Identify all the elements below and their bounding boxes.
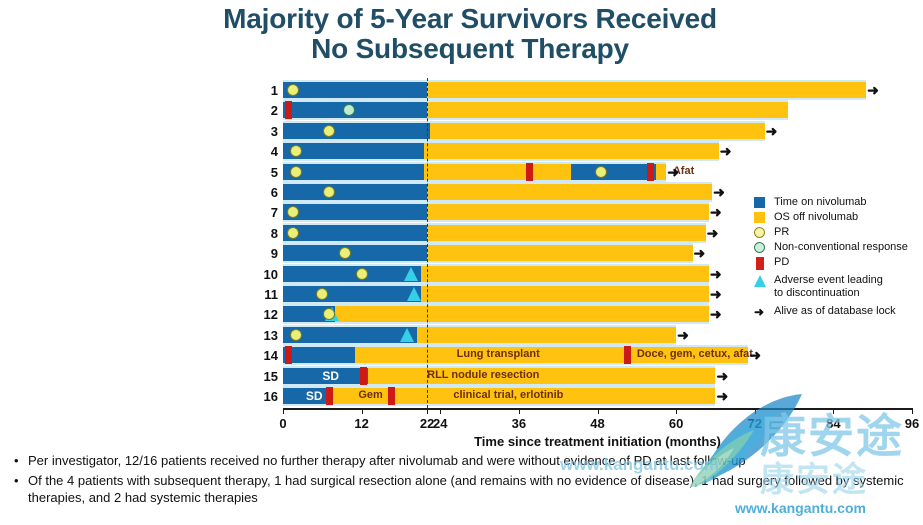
time-on-nivolumab-segment [283, 204, 427, 220]
alive-arrow-icon: ➜ [694, 247, 706, 259]
red-bar-icon [756, 257, 764, 270]
pr-marker [323, 186, 335, 198]
legend-item[interactable]: PR [752, 226, 920, 239]
time-on-nivolumab-segment [283, 123, 430, 139]
axis-tick [519, 408, 520, 414]
row-label: 8 [252, 226, 278, 241]
bar-annotation-label: Lung transplant [457, 348, 540, 360]
axis-tick [598, 408, 599, 414]
pr-marker [287, 227, 299, 239]
alive-arrow-icon: ➜ [713, 186, 725, 198]
axis-tick [427, 408, 428, 414]
pd-marker [647, 163, 654, 181]
adverse-event-marker [404, 267, 418, 281]
bullet-item: Per investigator, 12/16 patients receive… [10, 452, 915, 469]
bar-annotation-label: SD [322, 369, 339, 383]
row-label: 7 [252, 205, 278, 220]
legend-item-label: Non-conventional response [774, 241, 908, 253]
alive-arrow-icon: ➜ [677, 329, 689, 341]
alive-arrow-icon: ➜ [766, 125, 778, 137]
row-label: 9 [252, 246, 278, 261]
legend-item-label-line2: to discontinuation [774, 287, 920, 300]
legend-item[interactable]: PD [752, 256, 920, 269]
alive-arrow-icon: ➜ [867, 84, 879, 96]
axis-tick [833, 408, 834, 414]
row-label: 12 [252, 307, 278, 322]
patient-row[interactable]: ➜ [283, 121, 912, 141]
legend-item[interactable]: Time on nivolumab [752, 196, 920, 209]
pd-marker [360, 367, 367, 385]
axis-tick-label: 48 [590, 416, 604, 431]
time-on-nivolumab-segment [283, 266, 421, 282]
adverse-event-marker [407, 287, 421, 301]
pd-marker [624, 346, 631, 364]
reference-line [427, 78, 428, 408]
pd-marker [326, 387, 333, 405]
time-on-nivolumab-segment [283, 82, 427, 98]
pd-marker [285, 346, 292, 364]
alive-arrow-icon: ➜ [710, 206, 722, 218]
row-label: 10 [252, 267, 278, 282]
chart-legend: Time on nivolumabOS off nivolumabPRNon-c… [752, 196, 920, 320]
time-on-nivolumab-segment [283, 286, 421, 302]
pd-marker [285, 101, 292, 119]
pr-marker [323, 125, 335, 137]
page-title: Majority of 5-Year Survivors Received No… [150, 4, 790, 64]
row-label: 15 [252, 369, 278, 384]
axis-tick [283, 408, 284, 414]
legend-item[interactable]: ➜Alive as of database lock [752, 305, 920, 318]
alive-arrow-icon: ➜ [667, 166, 679, 178]
row-label: 14 [252, 348, 278, 363]
cyan-triangle-icon [754, 275, 766, 287]
yellow-circle-icon [754, 227, 765, 238]
patient-row[interactable]: ➜ [283, 141, 912, 161]
pd-marker [526, 163, 533, 181]
legend-item-label: OS off nivolumab [774, 211, 858, 223]
legend-item-label: Adverse event leading [774, 274, 883, 286]
time-on-nivolumab-segment [283, 184, 427, 200]
row-label: 4 [252, 144, 278, 159]
patient-row[interactable] [283, 100, 912, 120]
bar-annotation-label: SD [306, 389, 323, 403]
alive-arrow-icon: ➜ [716, 370, 728, 382]
time-on-nivolumab-segment [283, 327, 417, 343]
patient-row[interactable]: SDGemclinical trial, erlotinib➜ [283, 386, 912, 406]
row-label: 11 [252, 287, 278, 302]
alive-arrow-icon: ➜ [720, 145, 732, 157]
alive-arrow-icon: ➜ [710, 268, 722, 280]
row-label: 2 [252, 103, 278, 118]
pd-marker [388, 387, 395, 405]
row-label: 3 [252, 124, 278, 139]
os-off-nivolumab-segment [283, 306, 709, 322]
patient-row[interactable]: ➜ [283, 80, 912, 100]
patient-row[interactable]: SDRLL nodule resection➜ [283, 366, 912, 386]
axis-tick-label: 36 [512, 416, 526, 431]
legend-item-label: PR [774, 226, 789, 238]
adverse-event-marker [400, 328, 414, 342]
alive-arrow-icon: ➜ [749, 349, 761, 361]
axis-tick [676, 408, 677, 414]
yellow-square-icon [754, 212, 765, 223]
pr-marker [595, 166, 607, 178]
bullet-item: Of the 4 patients with subsequent therap… [10, 472, 915, 506]
time-on-nivolumab-segment [283, 164, 424, 180]
time-on-nivolumab-segment [283, 102, 427, 118]
blue-square-icon [754, 197, 765, 208]
row-label: 16 [252, 389, 278, 404]
axis-tick-label: 72 [748, 416, 762, 431]
row-label: 5 [252, 165, 278, 180]
slide-root: Majority of 5-Year Survivors Received No… [0, 0, 923, 525]
row-label: 13 [252, 328, 278, 343]
patient-row[interactable]: ➜ [283, 325, 912, 345]
bar-annotation-label: Doce, gem, cetux, afat [637, 348, 753, 360]
alive-arrow-icon: ➜ [710, 288, 722, 300]
axis-tick-label: 60 [669, 416, 683, 431]
row-label: 6 [252, 185, 278, 200]
title-line-1: Majority of 5-Year Survivors Received [223, 3, 717, 34]
axis-tick [912, 408, 913, 414]
right-arrow-icon: ➜ [754, 306, 764, 318]
legend-item[interactable]: Non-conventional response [752, 241, 920, 254]
pr-marker [290, 329, 302, 341]
legend-item[interactable]: Adverse event leadingto discontinuation [752, 274, 920, 300]
legend-item-label: Alive as of database lock [774, 305, 896, 317]
time-on-nivolumab-segment [283, 245, 427, 261]
axis-tick-label: 96 [905, 416, 919, 431]
retreatment-segment [571, 164, 656, 180]
bar-annotation-label: clinical trial, erlotinib [453, 389, 563, 401]
patient-row[interactable]: Lung transplantDoce, gem, cetux, afat➜ [283, 345, 912, 365]
bar-annotation-label: Gem [358, 389, 382, 401]
footnote-bullets: Per investigator, 12/16 patients receive… [10, 452, 915, 509]
row-label: 1 [252, 83, 278, 98]
time-on-nivolumab-segment [283, 347, 355, 363]
time-on-nivolumab-segment [283, 143, 424, 159]
axis-tick [440, 408, 441, 414]
bar-annotation-label: RLL nodule resection [427, 369, 539, 381]
pr-marker [356, 268, 368, 280]
axis-tick-label: 12 [354, 416, 368, 431]
title-line-2: No Subsequent Therapy [150, 34, 790, 64]
green-circle-icon [754, 242, 765, 253]
patient-row[interactable]: Afat➜ [283, 162, 912, 182]
alive-arrow-icon: ➜ [716, 390, 728, 402]
non-conventional-response-marker [343, 104, 355, 116]
pr-marker [287, 84, 299, 96]
axis-tick-label: 24 [433, 416, 447, 431]
legend-item-label: PD [774, 256, 789, 268]
legend-item[interactable]: OS off nivolumab [752, 211, 920, 224]
pr-marker [290, 166, 302, 178]
axis-tick [755, 408, 756, 414]
axis-tick-label: 84 [826, 416, 840, 431]
alive-arrow-icon: ➜ [710, 308, 722, 320]
alive-arrow-icon: ➜ [707, 227, 719, 239]
axis-tick [362, 408, 363, 414]
axis-tick-label: 0 [279, 416, 286, 431]
x-axis-title: Time since treatment initiation (months) [283, 434, 912, 449]
time-on-nivolumab-segment [283, 225, 427, 241]
legend-item-label: Time on nivolumab [774, 196, 867, 208]
